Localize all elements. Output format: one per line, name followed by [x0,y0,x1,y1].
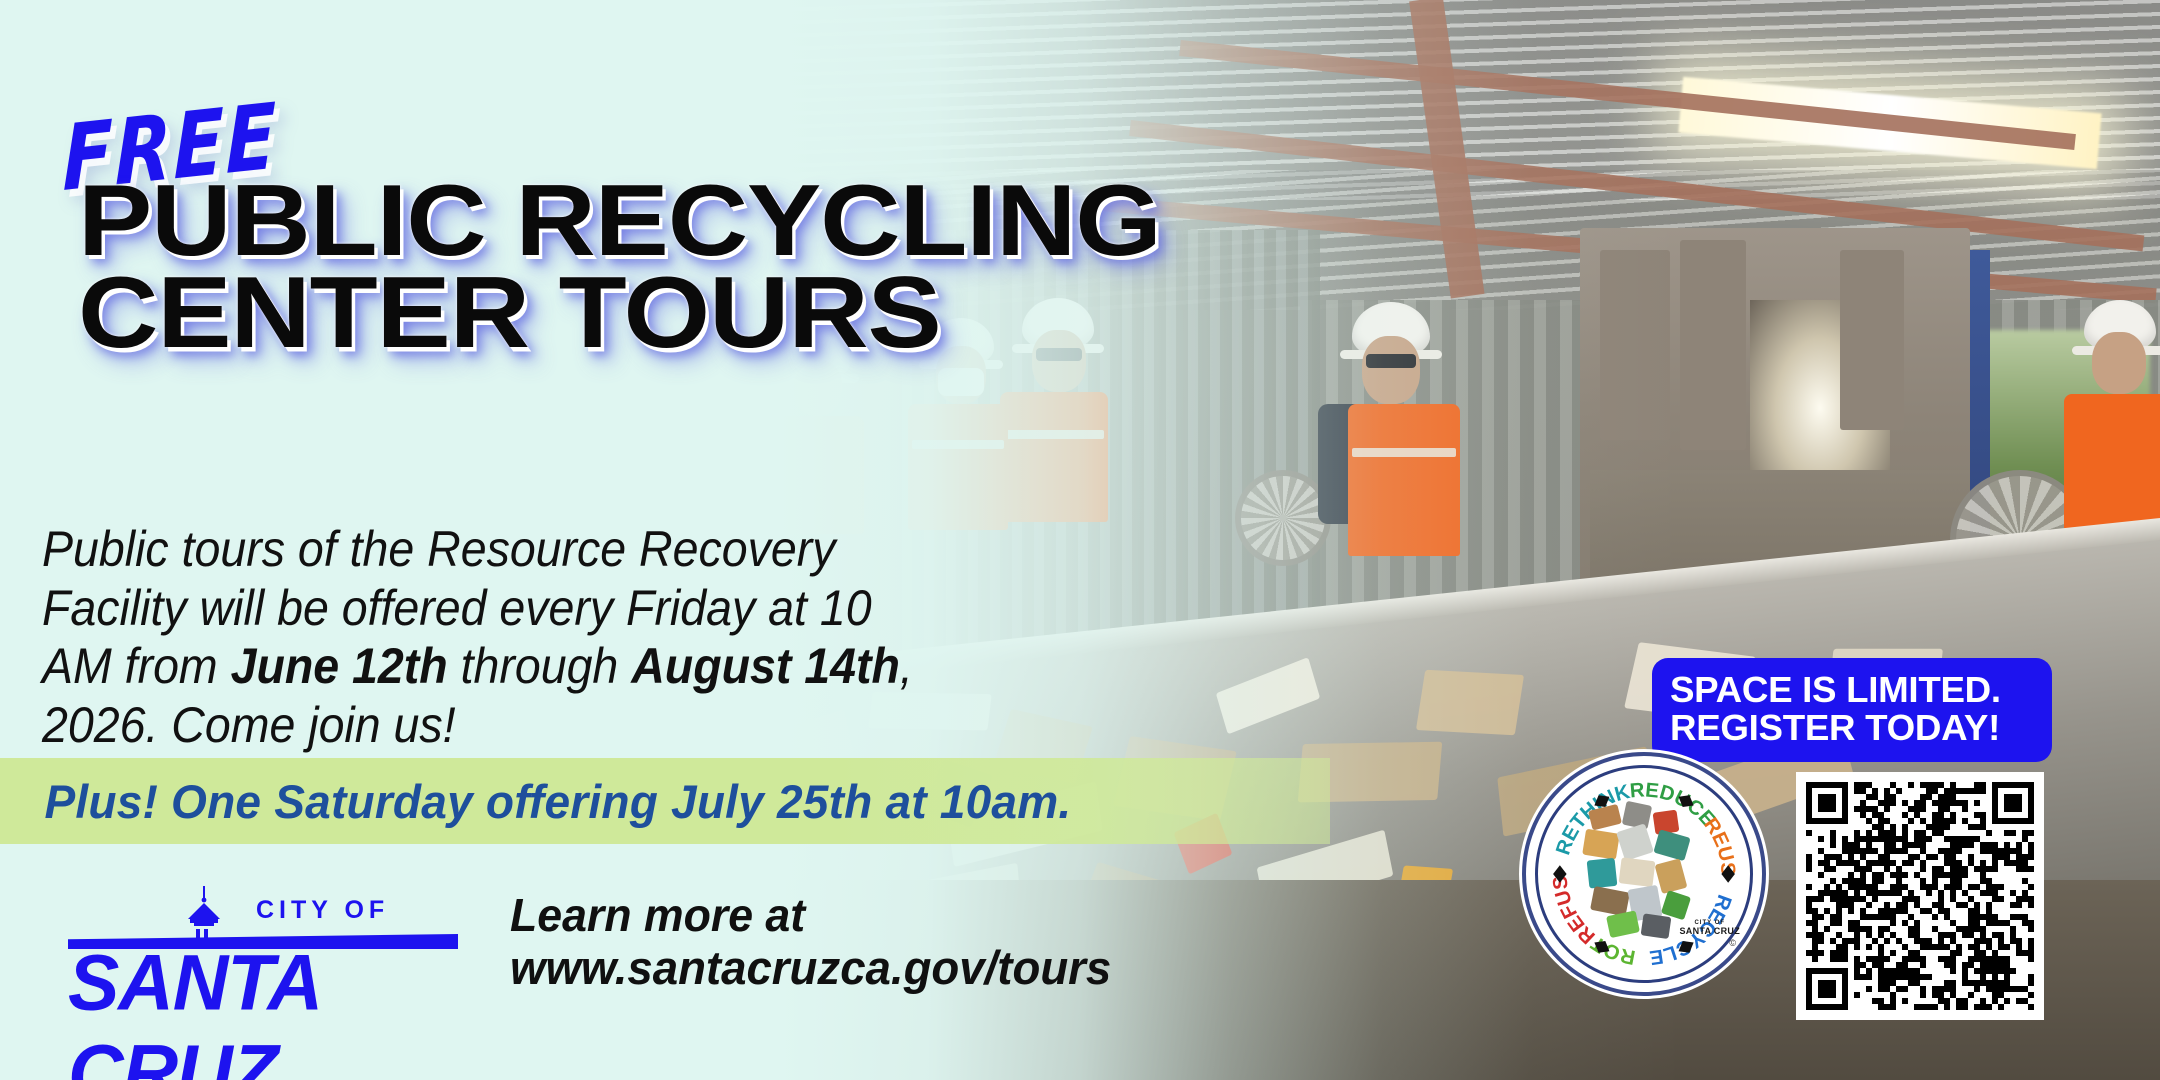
learn-more-label: Learn more at [510,889,805,941]
six-r-recycling-badge: RETHINK REDUCE REUSE RECYCLE ROT REFUSE [1522,752,1766,996]
poster-footer: CITY OF SANTA CRUZ Learn more at www.san… [0,880,1300,1080]
poster-root: FREE PUBLIC RECYCLING CENTER TOURS Publi… [0,0,2160,1080]
qr-canvas [1806,782,2034,1010]
register-line-2: REGISTER TODAY! [1670,709,2043,747]
badge-copyright: © [1729,938,1736,948]
logo-city-of-text: CITY OF [256,896,389,925]
saturday-offering-text: Plus! One Saturday offering July 25th at… [44,774,1071,829]
registration-qr-code[interactable] [1796,772,2044,1020]
lighthouse-tower-icon [172,886,236,942]
logo-city-name: SANTA CRUZ [68,938,497,1080]
learn-more-block: Learn more at www.santacruzca.gov/tours [510,890,1111,994]
tours-url[interactable]: www.santacruzca.gov/tours [510,942,1111,995]
city-of-santa-cruz-logo: CITY OF SANTA CRUZ [68,886,458,1014]
badge-city-mark: CITY OF SANTA CRUZ [1680,920,1741,936]
body-date-june: June 12th [231,638,448,694]
register-line-1: SPACE IS LIMITED. [1670,671,2043,709]
headline-line-2: CENTER TOURS [78,268,1308,361]
page-title: PUBLIC RECYCLING CENTER TOURS [78,175,1308,360]
register-callout[interactable]: SPACE IS LIMITED. REGISTER TODAY! [1652,658,2052,762]
body-paragraph: Public tours of the Resource Recovery Fa… [42,520,935,754]
body-date-august: August 14th [631,638,900,694]
poster-content: FREE PUBLIC RECYCLING CENTER TOURS Publi… [0,0,2160,1080]
saturday-offering-banner: Plus! One Saturday offering July 25th at… [0,758,1330,844]
body-text-part-2: through [448,638,632,694]
